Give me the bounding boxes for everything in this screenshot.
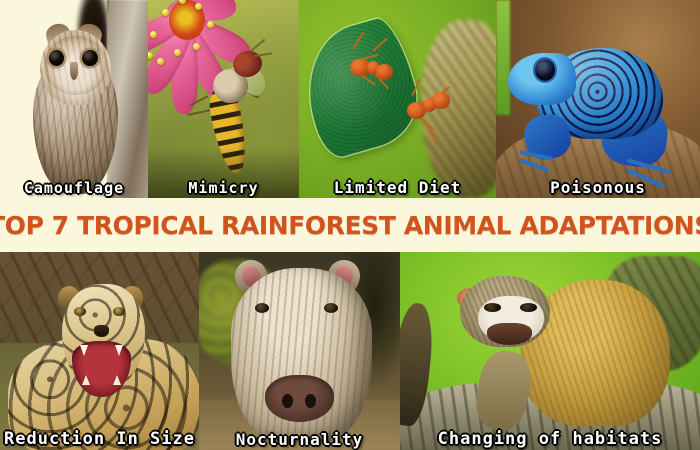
caption-camouflage: Camouflage xyxy=(0,181,148,196)
photo-panel-mimicry[interactable]: Mimicry xyxy=(148,0,299,198)
caption-reduction-in-size: Reduction In Size xyxy=(0,431,199,448)
scene-owl-on-bark xyxy=(0,0,148,198)
bottom-photo-row: Reduction In Size Nocturnality xyxy=(0,252,700,450)
photo-panel-changing-of-habitats[interactable]: Changing of habitats xyxy=(400,252,700,450)
scene-leafcutter-ants xyxy=(299,0,496,198)
caption-changing-of-habitats: Changing of habitats xyxy=(400,431,700,448)
page-title: TOP 7 TROPICAL RAINFOREST ANIMAL ADAPTAT… xyxy=(0,211,700,240)
photo-panel-camouflage[interactable]: Camouflage xyxy=(0,0,148,198)
scene-bearded-pig xyxy=(199,252,400,450)
photo-panel-nocturnality[interactable]: Nocturnality xyxy=(199,252,400,450)
scene-roaring-jaguar xyxy=(0,252,199,450)
caption-mimicry: Mimicry xyxy=(148,181,299,196)
photo-panel-limited-diet[interactable]: Limited Diet xyxy=(299,0,496,198)
title-banner: TOP 7 TROPICAL RAINFOREST ANIMAL ADAPTAT… xyxy=(0,198,700,252)
photo-panel-reduction-in-size[interactable]: Reduction In Size xyxy=(0,252,199,450)
scene-squirrel-monkey xyxy=(400,252,700,450)
top-photo-row: Camouflage xyxy=(0,0,700,198)
photo-panel-poisonous[interactable]: Poisonous xyxy=(496,0,700,198)
caption-nocturnality: Nocturnality xyxy=(199,432,400,448)
caption-poisonous: Poisonous xyxy=(496,180,700,196)
caption-limited-diet: Limited Diet xyxy=(299,180,496,196)
infographic-poster: Camouflage xyxy=(0,0,700,450)
scene-blue-poison-dart-frog xyxy=(496,0,700,198)
scene-hoverfly-on-flower xyxy=(148,0,299,198)
